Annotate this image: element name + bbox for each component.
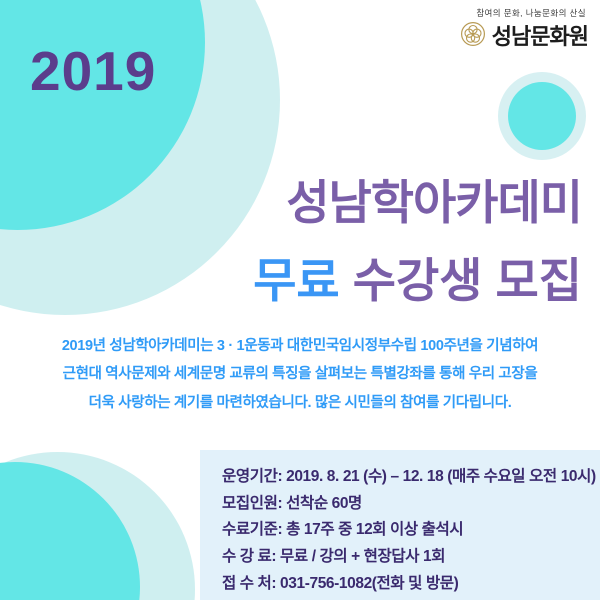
bottom-left-halo-circle bbox=[0, 452, 195, 600]
organization-name: 성남문화원 bbox=[492, 26, 588, 48]
body-line-3: 더욱 사랑하는 계기를 마련하였습니다. 많은 시민들의 참여를 기다립니다. bbox=[0, 389, 600, 417]
logo-main-row: 성남문화원 bbox=[460, 21, 588, 52]
right-small-halo-circle bbox=[498, 72, 586, 160]
poster-canvas: 참여의 문화, 나눔문화의 산실 성남문화원 2019 성남학아카데미 무료 수… bbox=[0, 0, 600, 600]
top-left-solid-circle bbox=[0, 0, 205, 230]
info-row-capacity: 모집인원: 선착순 60명 bbox=[222, 491, 600, 518]
body-line-2: 근현대 역사문제와 세계문명 교류의 특징을 살펴보는 특별강좌를 통해 우리 … bbox=[0, 360, 600, 388]
bottom-left-solid-circle bbox=[0, 462, 140, 600]
flower-emblem-icon bbox=[460, 21, 486, 52]
body-paragraph: 2019년 성남학아카데미는 3 · 1운동과 대한민국임시정부수립 100주년… bbox=[0, 332, 600, 417]
logo-tagline: 참여의 문화, 나눔문화의 산실 bbox=[460, 7, 586, 19]
organization-logo: 참여의 문화, 나눔문화의 산실 성남문화원 bbox=[460, 7, 588, 52]
info-row-completion: 수료기준: 총 17주 중 12회 이상 출석시 bbox=[222, 517, 600, 544]
poster-title-primary: 성남학아카데미 bbox=[286, 178, 582, 227]
title-free-word: 무료 bbox=[253, 254, 339, 307]
info-row-period: 운영기간: 2019. 8. 21 (수) – 12. 18 (매주 수요일 오… bbox=[222, 464, 600, 491]
info-row-contact: 접 수 처: 031-756-1082(전화 및 방문) bbox=[222, 571, 600, 598]
course-details-box: 운영기간: 2019. 8. 21 (수) – 12. 18 (매주 수요일 오… bbox=[200, 450, 600, 600]
poster-title-secondary: 무료 수강생 모집 bbox=[253, 256, 582, 305]
year-label: 2019 bbox=[30, 44, 156, 99]
title-recruit-words: 수강생 모집 bbox=[340, 254, 582, 307]
right-small-solid-circle bbox=[508, 82, 576, 150]
info-row-fee: 수 강 료: 무료 / 강의 + 현장답사 1회 bbox=[222, 544, 600, 571]
body-line-1: 2019년 성남학아카데미는 3 · 1운동과 대한민국임시정부수립 100주년… bbox=[0, 332, 600, 360]
